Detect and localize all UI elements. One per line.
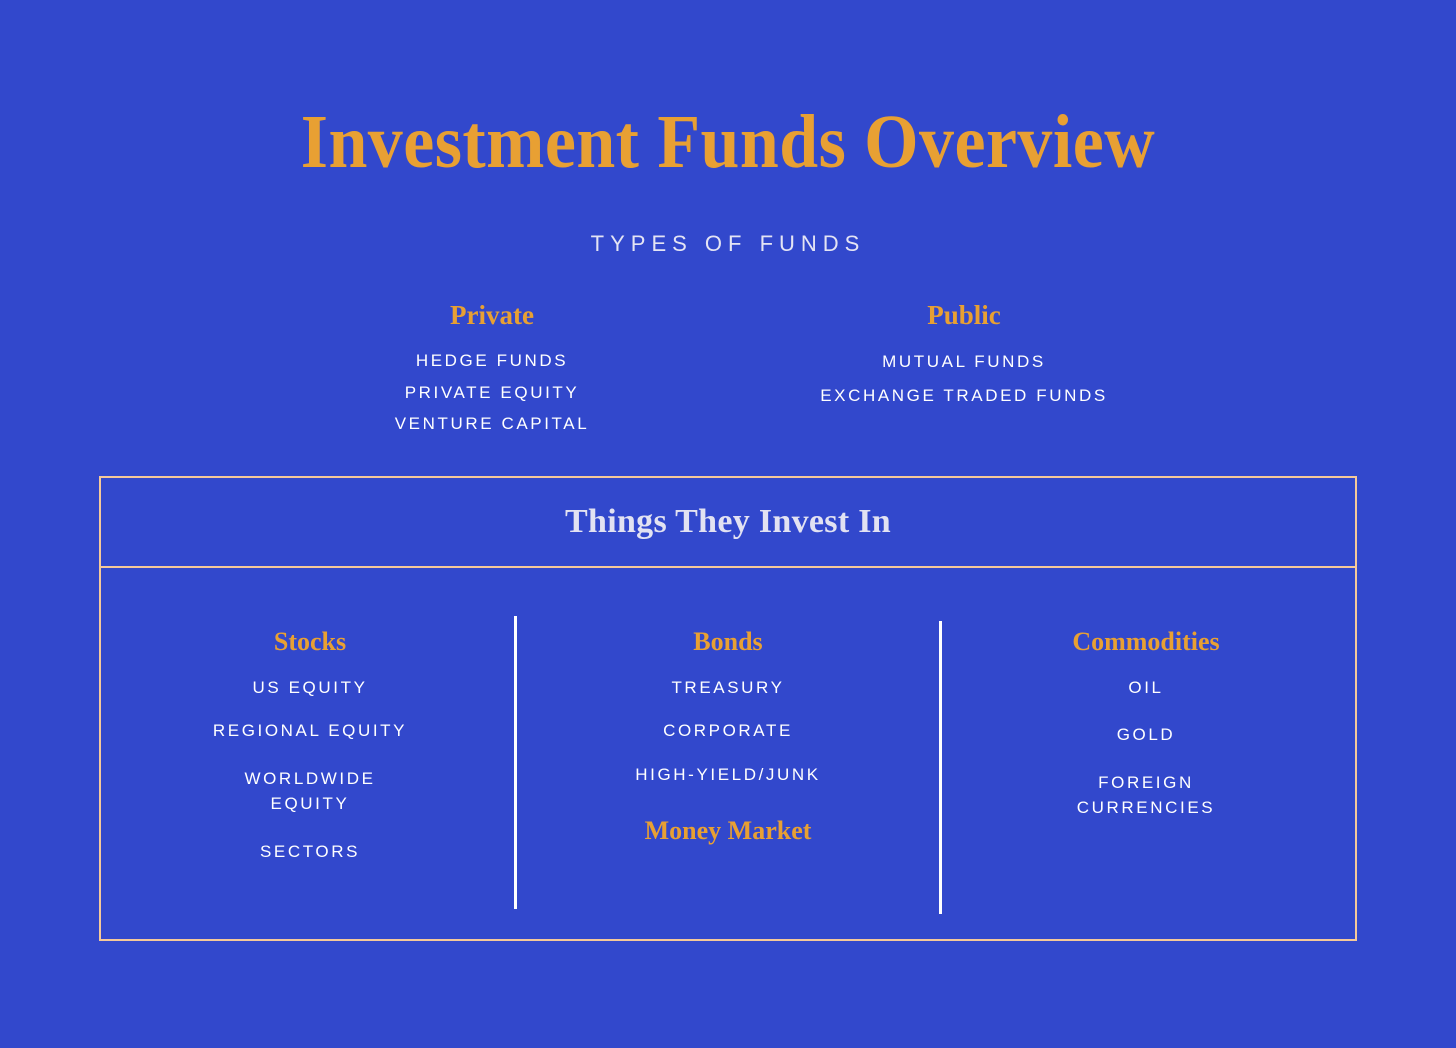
invest-column-stocks: Stocks US EQUITY REGIONAL EQUITY WORLDWI… xyxy=(101,568,519,941)
invest-item-regional-equity: REGIONAL EQUITY xyxy=(101,718,519,744)
invest-item-worldwide-equity-line1: WORLDWIDE xyxy=(101,766,519,792)
fund-type-item-exchange-traded-funds: EXCHANGE TRADED FUNDS xyxy=(749,379,1179,413)
invest-item-oil: OIL xyxy=(937,675,1355,701)
fund-type-group-public: Public MUTUAL FUNDS EXCHANGE TRADED FUND… xyxy=(749,300,1179,440)
invest-item-treasury: TREASURY xyxy=(519,675,937,701)
section-label-types-of-funds: TYPES OF FUNDS xyxy=(0,231,1456,257)
fund-type-group-private: Private HEDGE FUNDS PRIVATE EQUITY VENTU… xyxy=(277,300,707,440)
fund-type-heading-private: Private xyxy=(277,300,707,331)
invest-columns: Stocks US EQUITY REGIONAL EQUITY WORLDWI… xyxy=(101,568,1355,941)
invest-panel: Things They Invest In Stocks US EQUITY R… xyxy=(99,476,1357,941)
invest-item-us-equity: US EQUITY xyxy=(101,675,519,701)
invest-item-corporate: CORPORATE xyxy=(519,718,937,744)
page-title: Investment Funds Overview xyxy=(58,104,1398,180)
invest-item-gold: GOLD xyxy=(937,722,1355,748)
invest-column-heading-money-market: Money Market xyxy=(519,817,937,846)
invest-panel-header: Things They Invest In xyxy=(101,478,1355,568)
invest-column-heading-commodities: Commodities xyxy=(937,628,1355,657)
invest-item-worldwide-equity-line2: EQUITY xyxy=(101,791,519,817)
fund-type-item-mutual-funds: MUTUAL FUNDS xyxy=(749,345,1179,379)
fund-type-item-private-equity: PRIVATE EQUITY xyxy=(277,377,707,409)
fund-type-item-venture-capital: VENTURE CAPITAL xyxy=(277,408,707,440)
invest-column-bonds: Bonds TREASURY CORPORATE HIGH-YIELD/JUNK… xyxy=(519,568,937,941)
fund-types-row: Private HEDGE FUNDS PRIVATE EQUITY VENTU… xyxy=(0,300,1456,440)
invest-panel-title: Things They Invest In xyxy=(565,503,891,541)
invest-column-heading-bonds: Bonds xyxy=(519,628,937,657)
fund-type-item-hedge-funds: HEDGE FUNDS xyxy=(277,345,707,377)
invest-item-worldwide-equity: WORLDWIDE EQUITY xyxy=(101,766,519,817)
fund-type-heading-public: Public xyxy=(749,300,1179,331)
invest-item-foreign-currencies-line2: CURRENCIES xyxy=(937,795,1355,821)
invest-column-heading-stocks: Stocks xyxy=(101,628,519,657)
invest-item-sectors: SECTORS xyxy=(101,839,519,865)
invest-column-commodities: Commodities OIL GOLD FOREIGN CURRENCIES xyxy=(937,568,1355,941)
invest-item-foreign-currencies-line1: FOREIGN xyxy=(937,770,1355,796)
invest-item-high-yield-junk: HIGH-YIELD/JUNK xyxy=(519,762,937,788)
invest-item-foreign-currencies: FOREIGN CURRENCIES xyxy=(937,770,1355,821)
